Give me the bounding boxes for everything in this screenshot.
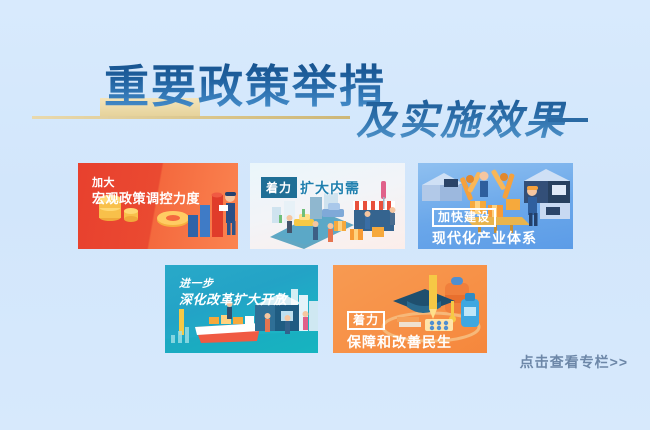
title-gold-rule — [32, 116, 350, 119]
policy-card-expand-demand[interactable]: 着力 扩大内需 — [250, 163, 405, 249]
card-4-line-1: 进一步 — [179, 277, 287, 291]
card-2-line-2: 扩大内需 — [300, 178, 360, 198]
card-1-text: 加大 宏观政策调控力度 — [92, 176, 200, 207]
policy-card-macro-control[interactable]: 加大 宏观政策调控力度 — [78, 163, 238, 249]
card-5-line-1: 着力 — [347, 311, 385, 330]
policy-card-modern-industry[interactable]: 加快建设 现代化产业体系 — [418, 163, 573, 249]
card-3-line-1: 加快建设 — [432, 208, 496, 227]
page-title-line-1: 重要政策举措 — [104, 62, 386, 112]
title-end-dash — [548, 118, 588, 122]
card-3-line-2: 现代化产业体系 — [432, 229, 537, 248]
policy-card-livelihood[interactable]: 着力 保障和改善民生 — [333, 265, 487, 353]
view-column-link[interactable]: 点击查看专栏>> — [520, 352, 628, 372]
card-4-line-2: 深化改革扩大开放 — [179, 291, 287, 308]
card-5-text: 着力 保障和改善民生 — [347, 311, 452, 352]
card-1-line-2: 宏观政策调控力度 — [92, 190, 200, 207]
banner-image: 重要政策举措 及实施效果 — [0, 0, 650, 430]
card-2-text: 着力 扩大内需 — [261, 177, 360, 198]
card-4-text: 进一步 深化改革扩大开放 — [179, 277, 287, 308]
policy-card-reform-opening[interactable]: 进一步 深化改革扩大开放 — [165, 265, 318, 353]
card-2-illustration — [250, 163, 405, 249]
card-5-line-2: 保障和改善民生 — [347, 333, 452, 352]
card-1-line-1: 加大 — [92, 176, 200, 190]
card-3-text: 加快建设 现代化产业体系 — [432, 208, 537, 248]
page-title-line-2: 及实施效果 — [356, 98, 566, 144]
card-2-chip: 着力 — [261, 177, 297, 198]
